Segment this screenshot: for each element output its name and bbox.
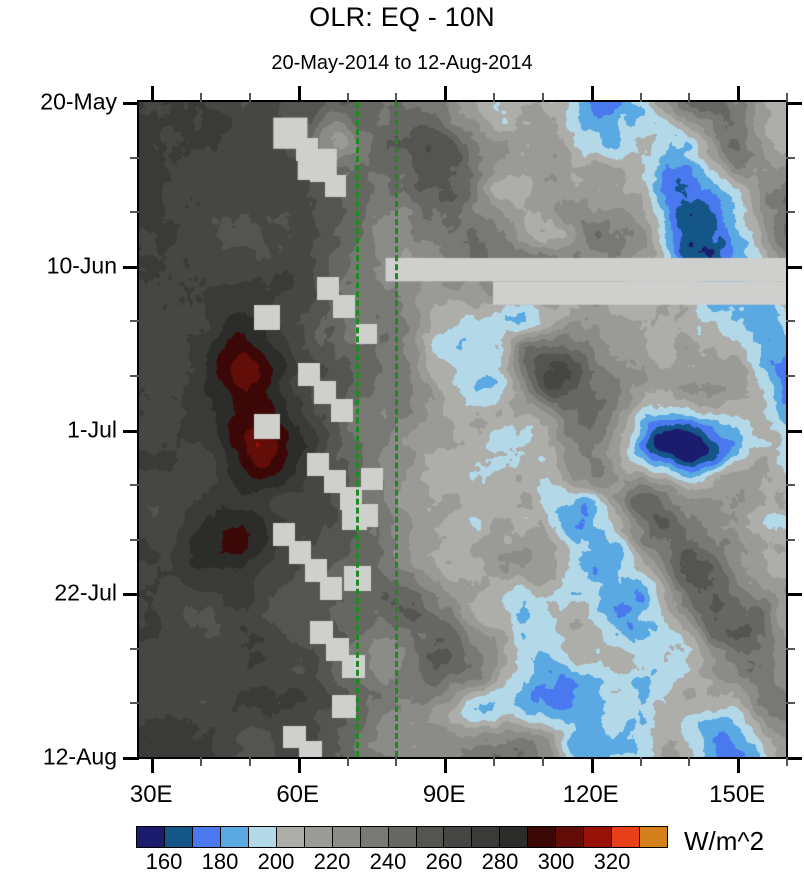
y-tick-minor <box>130 702 139 704</box>
colorbar-label-280: 280 <box>482 849 519 875</box>
y-tick-major <box>786 266 802 269</box>
y-tick-minor <box>130 484 139 486</box>
x-tick-major <box>591 757 594 773</box>
colorbar-units-label: W/m^2 <box>684 826 764 857</box>
colorbar-swatch-0[interactable] <box>137 827 165 847</box>
x-tick-major <box>737 86 740 102</box>
x-tick-minor <box>395 757 397 766</box>
x-tick-minor <box>542 93 544 102</box>
y-tick-label-1: 10-Jun <box>47 252 117 279</box>
y-tick-minor <box>786 484 795 486</box>
colorbar-swatch-16[interactable] <box>584 827 612 847</box>
colorbar-label-300: 300 <box>538 849 575 875</box>
y-tick-major <box>786 757 802 760</box>
x-tick-minor <box>640 93 642 102</box>
y-tick-minor <box>130 320 139 322</box>
colorbar-label-220: 220 <box>314 849 351 875</box>
y-tick-minor <box>786 702 795 704</box>
colorbar-swatch-6[interactable] <box>305 827 333 847</box>
reference-line-west-boundary <box>356 102 359 757</box>
x-tick-minor <box>688 757 690 766</box>
y-tick-label-3: 22-Jul <box>54 580 117 607</box>
x-tick-label-3: 120E <box>563 781 619 809</box>
colorbar-swatch-5[interactable] <box>277 827 305 847</box>
y-tick-minor <box>786 375 795 377</box>
x-tick-major <box>591 86 594 102</box>
x-tick-minor <box>200 93 202 102</box>
reference-line-east-boundary <box>395 102 398 757</box>
x-tick-minor <box>347 93 349 102</box>
x-tick-label-2: 90E <box>423 781 466 809</box>
colorbar-swatch-13[interactable] <box>500 827 528 847</box>
plot-area: 20-May10-Jun1-Jul22-Jul12-Aug 30E60E90E1… <box>137 100 788 759</box>
colorbar-label-180: 180 <box>202 849 239 875</box>
y-tick-label-0: 20-May <box>40 89 117 116</box>
colorbar-label-200: 200 <box>258 849 295 875</box>
y-tick-minor <box>786 157 795 159</box>
x-tick-minor <box>200 757 202 766</box>
x-tick-major <box>444 86 447 102</box>
x-tick-major <box>151 86 154 102</box>
colorbar[interactable] <box>136 826 668 848</box>
x-tick-minor <box>688 93 690 102</box>
y-tick-minor <box>786 539 795 541</box>
hovmoller-heatmap <box>139 102 786 757</box>
y-tick-major <box>123 102 139 105</box>
x-tick-label-1: 60E <box>276 781 319 809</box>
colorbar-swatch-8[interactable] <box>361 827 389 847</box>
x-tick-major <box>737 757 740 773</box>
y-tick-major <box>123 430 139 433</box>
x-tick-minor <box>249 93 251 102</box>
x-tick-label-0: 30E <box>130 781 173 809</box>
y-tick-minor <box>130 157 139 159</box>
colorbar-swatch-7[interactable] <box>333 827 361 847</box>
y-tick-minor <box>130 648 139 650</box>
colorbar-swatch-15[interactable] <box>556 827 584 847</box>
x-tick-major <box>298 86 301 102</box>
x-tick-minor <box>786 757 788 766</box>
x-tick-minor <box>249 757 251 766</box>
colorbar-label-160: 160 <box>146 849 183 875</box>
x-tick-minor <box>640 757 642 766</box>
olr-hovmoller-figure: OLR: EQ - 10N 20-May-2014 to 12-Aug-2014… <box>0 0 804 869</box>
colorbar-swatch-14[interactable] <box>528 827 556 847</box>
y-tick-minor <box>786 320 795 322</box>
x-tick-major <box>444 757 447 773</box>
x-tick-major <box>151 757 154 773</box>
y-tick-minor <box>786 648 795 650</box>
x-tick-label-4: 150E <box>709 781 765 809</box>
y-tick-major <box>786 102 802 105</box>
y-tick-major <box>123 266 139 269</box>
y-tick-major <box>123 593 139 596</box>
colorbar-swatch-2[interactable] <box>193 827 221 847</box>
y-tick-label-2: 1-Jul <box>67 416 117 443</box>
y-tick-minor <box>786 211 795 213</box>
page-subtitle: 20-May-2014 to 12-Aug-2014 <box>0 52 804 75</box>
x-tick-minor <box>542 757 544 766</box>
x-tick-minor <box>493 93 495 102</box>
colorbar-label-240: 240 <box>370 849 407 875</box>
colorbar-swatch-10[interactable] <box>417 827 445 847</box>
x-tick-minor <box>347 757 349 766</box>
colorbar-swatch-18[interactable] <box>640 827 667 847</box>
y-tick-label-4: 12-Aug <box>43 744 117 771</box>
y-tick-minor <box>130 375 139 377</box>
colorbar-swatch-3[interactable] <box>221 827 249 847</box>
x-tick-minor <box>493 757 495 766</box>
colorbar-swatch-1[interactable] <box>165 827 193 847</box>
colorbar-label-320: 320 <box>594 849 631 875</box>
x-tick-major <box>298 757 301 773</box>
colorbar-swatch-11[interactable] <box>444 827 472 847</box>
colorbar-swatch-9[interactable] <box>389 827 417 847</box>
page-title: OLR: EQ - 10N <box>0 2 804 33</box>
y-tick-major <box>123 757 139 760</box>
x-tick-minor <box>395 93 397 102</box>
y-tick-minor <box>130 539 139 541</box>
colorbar-swatch-12[interactable] <box>472 827 500 847</box>
y-tick-minor <box>130 211 139 213</box>
colorbar-swatch-4[interactable] <box>249 827 277 847</box>
colorbar-label-260: 260 <box>426 849 463 875</box>
y-tick-major <box>786 430 802 433</box>
colorbar-swatch-17[interactable] <box>612 827 640 847</box>
y-tick-major <box>786 593 802 596</box>
x-tick-minor <box>786 93 788 102</box>
